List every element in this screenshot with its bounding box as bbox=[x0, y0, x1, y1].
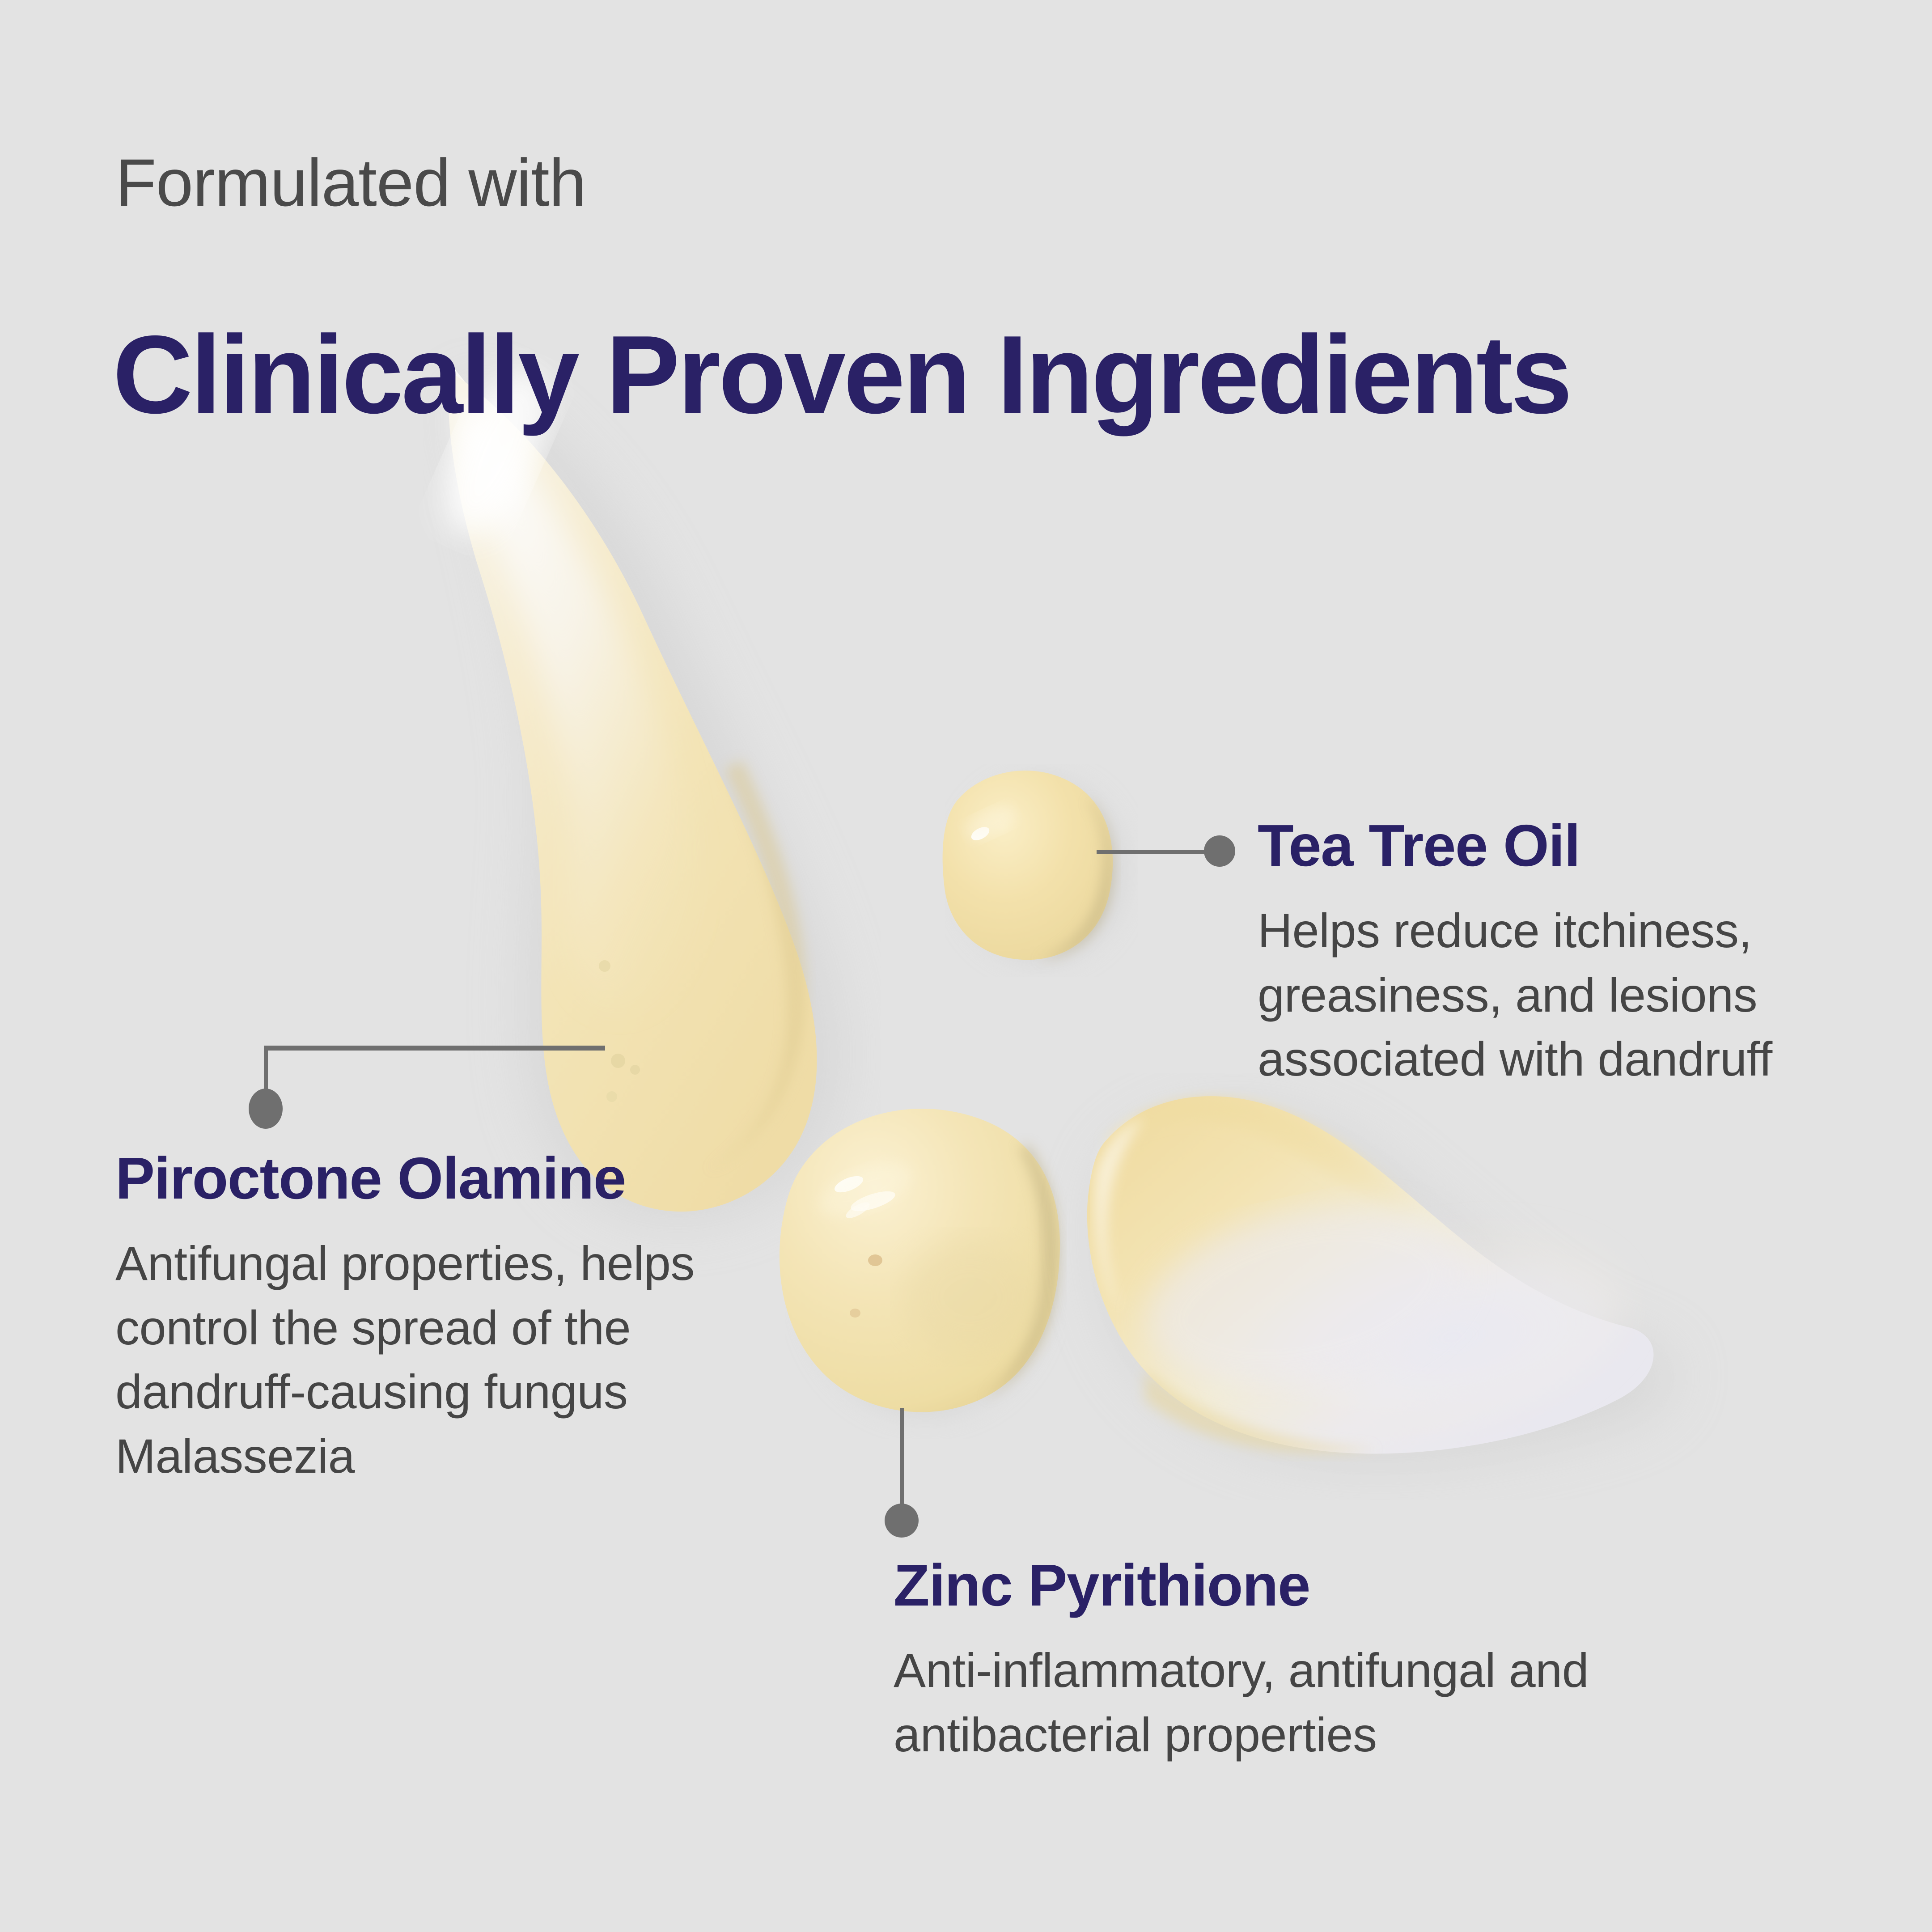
eyebrow-text: Formulated with bbox=[115, 148, 586, 218]
callout-description-tea-tree-oil: Helps reduce itchiness, greasiness, and … bbox=[1258, 898, 1884, 1091]
callout-description-zinc-pyrithione: Anti-inflammatory, antifungal and antiba… bbox=[894, 1638, 1654, 1767]
callout-piroctone-olamine: Piroctone Olamine Antifungal properties,… bbox=[115, 1146, 750, 1488]
callout-title-piroctone-olamine: Piroctone Olamine bbox=[115, 1146, 750, 1211]
leader-dot-piroctone-olamine bbox=[249, 1089, 283, 1129]
leader-dot-tea-tree-oil bbox=[1204, 835, 1235, 867]
callout-title-tea-tree-oil: Tea Tree Oil bbox=[1258, 813, 1884, 878]
callout-title-zinc-pyrithione: Zinc Pyrithione bbox=[894, 1553, 1654, 1618]
callout-zinc-pyrithione: Zinc Pyrithione Anti-inflammatory, antif… bbox=[894, 1553, 1654, 1767]
page-title: Clinically Proven Ingredients bbox=[113, 316, 1570, 433]
tea-tree-oil-droplet bbox=[943, 771, 1122, 961]
leader-dot-zinc-pyrithione bbox=[885, 1504, 919, 1538]
leader-line-zinc-pyrithione bbox=[900, 1408, 904, 1519]
callout-tea-tree-oil: Tea Tree Oil Helps reduce itchiness, gre… bbox=[1258, 813, 1884, 1091]
leader-line-tea-tree-oil bbox=[1097, 850, 1214, 854]
leader-line-piroctone-olamine-horizontal bbox=[264, 1046, 605, 1051]
cream-wave-smear bbox=[1087, 1096, 1674, 1467]
infographic-canvas: Formulated with Clinically Proven Ingred… bbox=[0, 0, 1932, 1932]
large-cream-teardrop-smear bbox=[423, 354, 843, 1220]
zinc-pyrithione-droplet bbox=[780, 1109, 1060, 1412]
callout-description-piroctone-olamine: Antifungal properties, helps control the… bbox=[115, 1231, 750, 1488]
